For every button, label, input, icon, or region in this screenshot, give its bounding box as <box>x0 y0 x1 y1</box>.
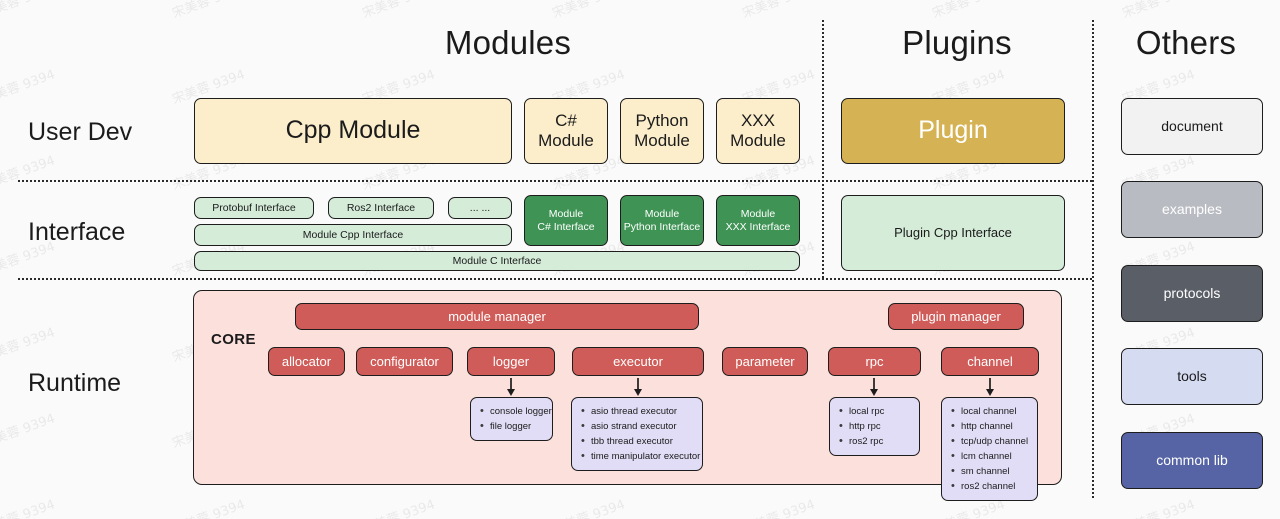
arrow-logger-down <box>504 377 518 399</box>
list-item: asio thread executor <box>580 404 694 419</box>
box-protocols[interactable]: protocols <box>1121 265 1263 322</box>
box-executor[interactable]: executor <box>572 347 704 376</box>
box-plugin-manager[interactable]: plugin manager <box>888 303 1024 330</box>
box-python-module[interactable]: Python Module <box>620 98 704 164</box>
watermark-text: 宋美蓉 9394 <box>359 494 437 519</box>
watermark-text: 宋美蓉 9394 <box>549 494 627 519</box>
list-item: time manipulator executor <box>580 449 694 464</box>
box-configurator[interactable]: configurator <box>356 347 453 376</box>
list-item: ros2 rpc <box>838 434 911 449</box>
watermark-text: 宋美蓉 9394 <box>0 322 57 366</box>
watermark-text: 宋美蓉 9394 <box>0 0 57 21</box>
architecture-diagram: 宋美蓉 9394宋美蓉 9394宋美蓉 9394宋美蓉 9394宋美蓉 9394… <box>0 0 1280 519</box>
list-logger-children: console loggerfile logger <box>470 397 553 441</box>
row-label-user-dev: User Dev <box>28 120 132 145</box>
box-plugin[interactable]: Plugin <box>841 98 1065 164</box>
row-label-runtime: Runtime <box>28 371 121 396</box>
separator-plugins-others <box>1092 20 1094 498</box>
list-item: tbb thread executor <box>580 434 694 449</box>
box-module-cpp-interface[interactable]: Module Cpp Interface <box>194 224 512 246</box>
list-item: console logger <box>479 404 544 419</box>
box-allocator[interactable]: allocator <box>268 347 345 376</box>
watermark-text: 宋美蓉 9394 <box>1119 494 1197 519</box>
box-document[interactable]: document <box>1121 98 1263 155</box>
box-more-interface[interactable]: ... ... <box>448 197 512 219</box>
watermark-text: 宋美蓉 9394 <box>739 0 817 21</box>
watermark-text: 宋美蓉 9394 <box>0 408 57 452</box>
list-item: sm channel <box>950 464 1029 479</box>
watermark-text: 宋美蓉 9394 <box>0 150 57 194</box>
watermark-text: 宋美蓉 9394 <box>359 0 437 21</box>
arrow-channel-down <box>983 377 997 399</box>
arrow-executor-down <box>631 377 645 399</box>
row-label-interface: Interface <box>28 220 125 245</box>
box-common-lib[interactable]: common lib <box>1121 432 1263 489</box>
box-parameter[interactable]: parameter <box>722 347 808 376</box>
list-item: file logger <box>479 419 544 434</box>
column-title-others: Others <box>1093 26 1279 59</box>
watermark-text: 宋美蓉 9394 <box>169 494 247 519</box>
box-tools[interactable]: tools <box>1121 348 1263 405</box>
box-module-xxx-interface[interactable]: Module XXX Interface <box>716 195 800 246</box>
list-rpc-children: local rpchttp rpcros2 rpc <box>829 397 920 456</box>
list-channel-children: local channelhttp channeltcp/udp channel… <box>941 397 1038 501</box>
watermark-text: 宋美蓉 9394 <box>0 494 57 519</box>
arrow-rpc-down <box>867 377 881 399</box>
list-item: lcm channel <box>950 449 1029 464</box>
column-title-modules: Modules <box>193 26 823 59</box>
column-title-plugins: Plugins <box>823 26 1091 59</box>
watermark-text: 宋美蓉 9394 <box>929 0 1007 21</box>
box-module-csharp-interface[interactable]: Module C# Interface <box>524 195 608 246</box>
box-examples[interactable]: examples <box>1121 181 1263 238</box>
list-item: http channel <box>950 419 1029 434</box>
box-module-manager[interactable]: module manager <box>295 303 699 330</box>
box-protobuf-interface[interactable]: Protobuf Interface <box>194 197 314 219</box>
box-ros2-interface[interactable]: Ros2 Interface <box>328 197 434 219</box>
box-logger[interactable]: logger <box>467 347 555 376</box>
watermark-text: 宋美蓉 9394 <box>549 0 627 21</box>
list-item: local channel <box>950 404 1029 419</box>
box-channel[interactable]: channel <box>941 347 1039 376</box>
box-module-python-interface[interactable]: Module Python Interface <box>620 195 704 246</box>
list-executor-children: asio thread executorasio strand executor… <box>571 397 703 471</box>
watermark-text: 宋美蓉 9394 <box>1119 0 1197 21</box>
watermark-text: 宋美蓉 9394 <box>169 0 247 21</box>
box-csharp-module[interactable]: C# Module <box>524 98 608 164</box>
box-module-c-interface[interactable]: Module C Interface <box>194 251 800 271</box>
box-plugin-cpp-interface[interactable]: Plugin Cpp Interface <box>841 195 1065 271</box>
watermark-text: 宋美蓉 9394 <box>0 64 57 108</box>
core-label: CORE <box>211 331 256 348</box>
box-xxx-module[interactable]: XXX Module <box>716 98 800 164</box>
list-item: asio strand executor <box>580 419 694 434</box>
list-item: ros2 channel <box>950 479 1029 494</box>
separator-interface-runtime <box>18 278 1092 280</box>
separator-userdev-interface <box>18 180 1092 182</box>
list-item: tcp/udp channel <box>950 434 1029 449</box>
list-item: local rpc <box>838 404 911 419</box>
list-item: http rpc <box>838 419 911 434</box>
watermark-text: 宋美蓉 9394 <box>739 494 817 519</box>
box-cpp-module[interactable]: Cpp Module <box>194 98 512 164</box>
box-rpc[interactable]: rpc <box>828 347 921 376</box>
